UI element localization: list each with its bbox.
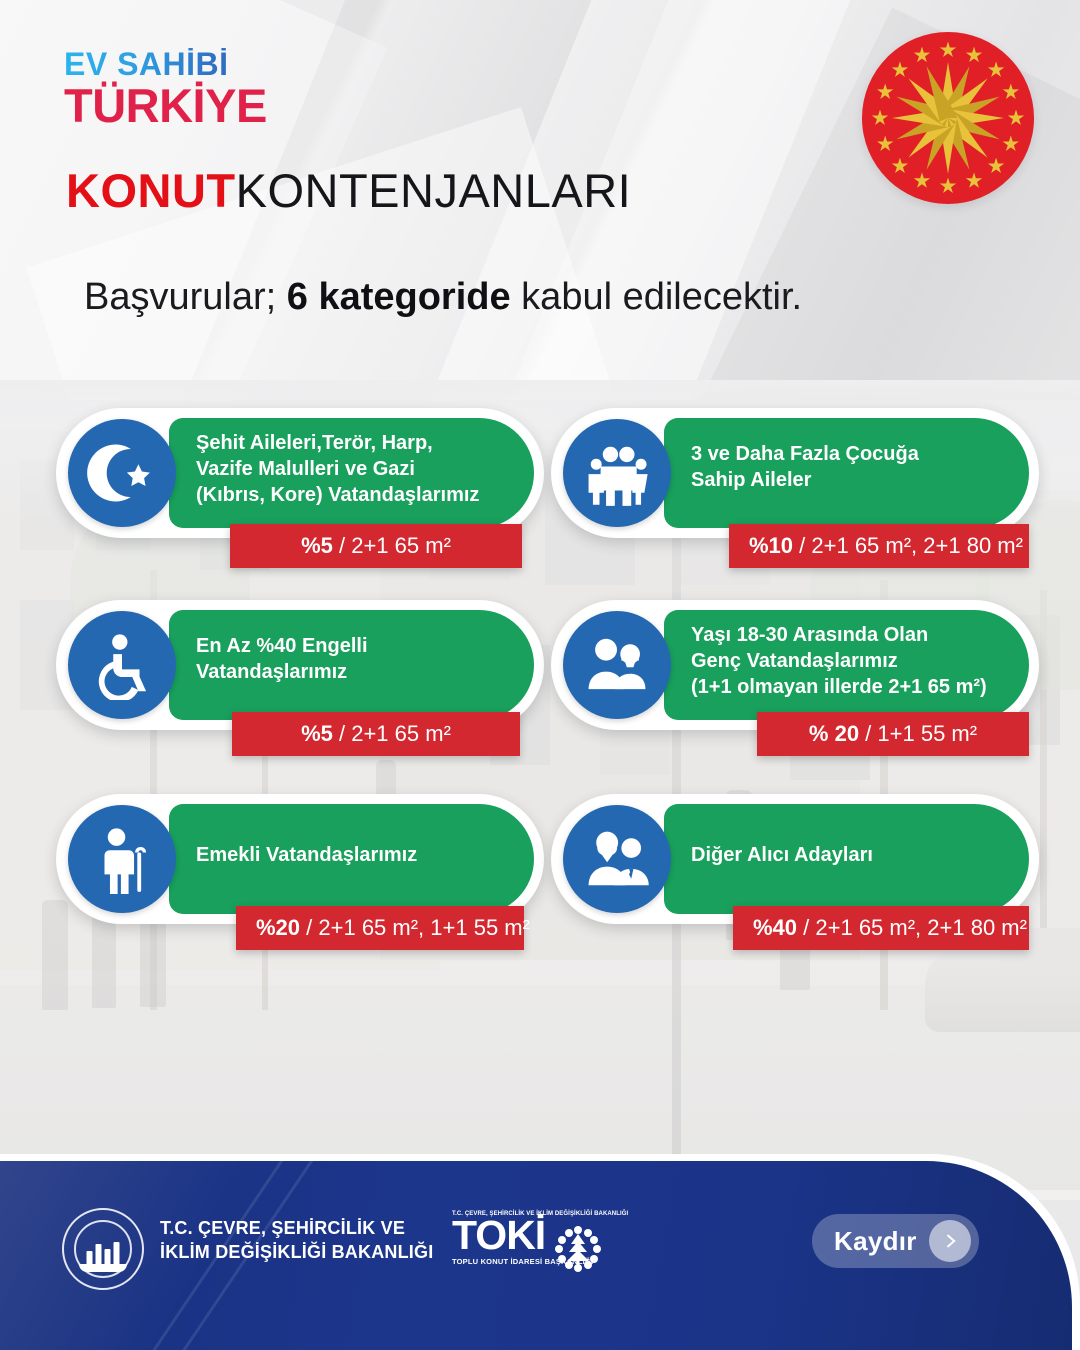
card-shell: Yaşı 18-30 Arasında OlanGenç Vatandaşlar… (551, 600, 1039, 730)
emblem-star (913, 47, 930, 64)
card-text-line: Yaşı 18-30 Arasında Olan (691, 622, 1021, 648)
card-text-line: (Kıbrıs, Kore) Vatandaşlarımız (196, 482, 526, 508)
toki-dot (574, 1226, 582, 1234)
quota-types: / 2+1 65 m², 2+1 80 m² (797, 915, 1027, 940)
toki-dot (565, 1261, 573, 1269)
emblem-star (940, 178, 957, 195)
toki-dot (555, 1245, 563, 1253)
page-title-highlight: KONUT (66, 164, 236, 217)
subtitle-post: kabul edilecektir. (511, 276, 803, 318)
card-shell: 3 ve Daha Fazla ÇocuğaSahip Aileler (551, 408, 1039, 538)
card-text: En Az %40 EngelliVatandaşlarımız (196, 633, 526, 685)
card-shell: En Az %40 EngelliVatandaşlarımız (56, 600, 544, 730)
swipe-button[interactable]: Kaydır (812, 1214, 979, 1268)
toki-dot (584, 1229, 592, 1237)
toki-dot (590, 1236, 598, 1244)
emblem-star (1002, 83, 1019, 100)
two-adults-icon (563, 805, 671, 913)
emblem-star (877, 136, 894, 153)
subtitle-pre: Başvurular; (84, 276, 287, 318)
quota-percent: %10 (749, 533, 793, 558)
quota-percent: % 20 (809, 721, 859, 746)
card-text: Diğer Alıcı Adayları (691, 842, 1021, 868)
emblem-star (966, 172, 983, 189)
card-text-line: Sahip Aileler (691, 467, 1021, 493)
page-title: KONUTKONTENJANLARI (66, 163, 631, 218)
brand-line-2: TÜRKİYE (64, 82, 267, 130)
quota-badge: %5 / 2+1 65 m² (232, 712, 520, 756)
emblem-star (1002, 136, 1019, 153)
emblem-star (877, 83, 894, 100)
swipe-button-label: Kaydır (834, 1226, 917, 1257)
emblem-star (913, 172, 930, 189)
family-group-icon (563, 419, 671, 527)
quota-types: / 2+1 65 m² (333, 721, 451, 746)
young-couple-icon (563, 611, 671, 719)
subtitle: Başvurular; 6 kategoride kabul edilecekt… (84, 276, 802, 319)
card-text-line: Genç Vatandaşlarımız (691, 648, 1021, 674)
toki-dot (558, 1255, 566, 1263)
quota-percent: %40 (753, 915, 797, 940)
quota-badge: % 20 / 1+1 55 m² (757, 712, 1029, 756)
quota-types: / 2+1 65 m² (333, 533, 451, 558)
quota-badge: %40 / 2+1 65 m², 2+1 80 m² (733, 906, 1029, 950)
toki-dot (584, 1261, 592, 1269)
emblem-star (1008, 110, 1025, 127)
quota-percent: %20 (256, 915, 300, 940)
toki-dot (590, 1255, 598, 1263)
toki-dot (565, 1229, 573, 1237)
card-shell: Şehit Aileleri,Terör, Harp,Vazife Malull… (56, 408, 544, 538)
turkish-presidency-emblem (862, 32, 1034, 204)
card-text-line: Şehit Aileleri,Terör, Harp, (196, 430, 526, 456)
footer: T.C. ÇEVRE, ŞEHİRCİLİK VE İKLİM DEĞİŞİKL… (0, 1154, 1080, 1350)
emblem-star (891, 158, 908, 175)
emblem-star (872, 110, 889, 127)
emblem-star (966, 47, 983, 64)
quota-badge: %5 / 2+1 65 m² (230, 524, 522, 568)
emblem-star (891, 61, 908, 78)
card-shell: Diğer Alıcı Adayları (551, 794, 1039, 924)
ev-sahibi-turkiye-logo: EV SAHİBİ TÜRKİYE (64, 48, 267, 130)
card-text: Şehit Aileleri,Terör, Harp,Vazife Malull… (196, 430, 526, 508)
quota-types: / 2+1 65 m², 2+1 80 m² (793, 533, 1023, 558)
card-text: 3 ve Daha Fazla ÇocuğaSahip Aileler (691, 441, 1021, 493)
subtitle-bold: 6 kategoride (287, 276, 511, 318)
card-text: Yaşı 18-30 Arasında OlanGenç Vatandaşlar… (691, 622, 1021, 700)
card-shell: Emekli Vatandaşlarımız (56, 794, 544, 924)
brand-line-1: EV SAHİBİ (64, 48, 267, 80)
toki-logo: T.C. ÇEVRE, ŞEHİRCİLİK VE İKLİM DEĞİŞİKL… (452, 1211, 602, 1266)
card-text-line: En Az %40 Engelli (196, 633, 526, 659)
quota-types: / 2+1 65 m², 1+1 55 m² (300, 915, 530, 940)
crescent-star-icon (68, 419, 176, 527)
card-text-line: Emekli Vatandaşlarımız (196, 842, 526, 868)
quota-percent: %5 (301, 721, 333, 746)
toki-dot (558, 1236, 566, 1244)
ministry-name-line2: İKLİM DEĞİŞİKLİĞİ BAKANLIĞI (160, 1240, 433, 1264)
emblem-star (940, 42, 957, 59)
ministry-seal-icon (62, 1208, 144, 1290)
card-text-line: Vazife Malulleri ve Gazi (196, 456, 526, 482)
ministry-name-line1: T.C. ÇEVRE, ŞEHİRCİLİK VE (160, 1216, 433, 1240)
card-text-line: Vatandaşlarımız (196, 659, 526, 685)
emblem-star (988, 158, 1005, 175)
ministry-name: T.C. ÇEVRE, ŞEHİRCİLİK VE İKLİM DEĞİŞİKL… (160, 1216, 433, 1265)
chevron-right-icon[interactable] (929, 1220, 971, 1262)
card-text-line: (1+1 olmayan illerde 2+1 65 m²) (691, 674, 1021, 700)
quota-badge: %20 / 2+1 65 m², 1+1 55 m² (236, 906, 524, 950)
quota-percent: %5 (301, 533, 333, 558)
wheelchair-icon (68, 611, 176, 719)
elderly-person-icon (68, 805, 176, 913)
toki-tree-icon (554, 1225, 602, 1273)
toki-dot (593, 1245, 601, 1253)
card-text-line: Diğer Alıcı Adayları (691, 842, 1021, 868)
card-text: Emekli Vatandaşlarımız (196, 842, 526, 868)
card-text-line: 3 ve Daha Fazla Çocuğa (691, 441, 1021, 467)
quota-types: / 1+1 55 m² (859, 721, 977, 746)
emblem-star (988, 61, 1005, 78)
toki-dot (574, 1264, 582, 1272)
page-title-rest: KONTENJANLARI (236, 164, 632, 217)
quota-badge: %10 / 2+1 65 m², 2+1 80 m² (729, 524, 1029, 568)
